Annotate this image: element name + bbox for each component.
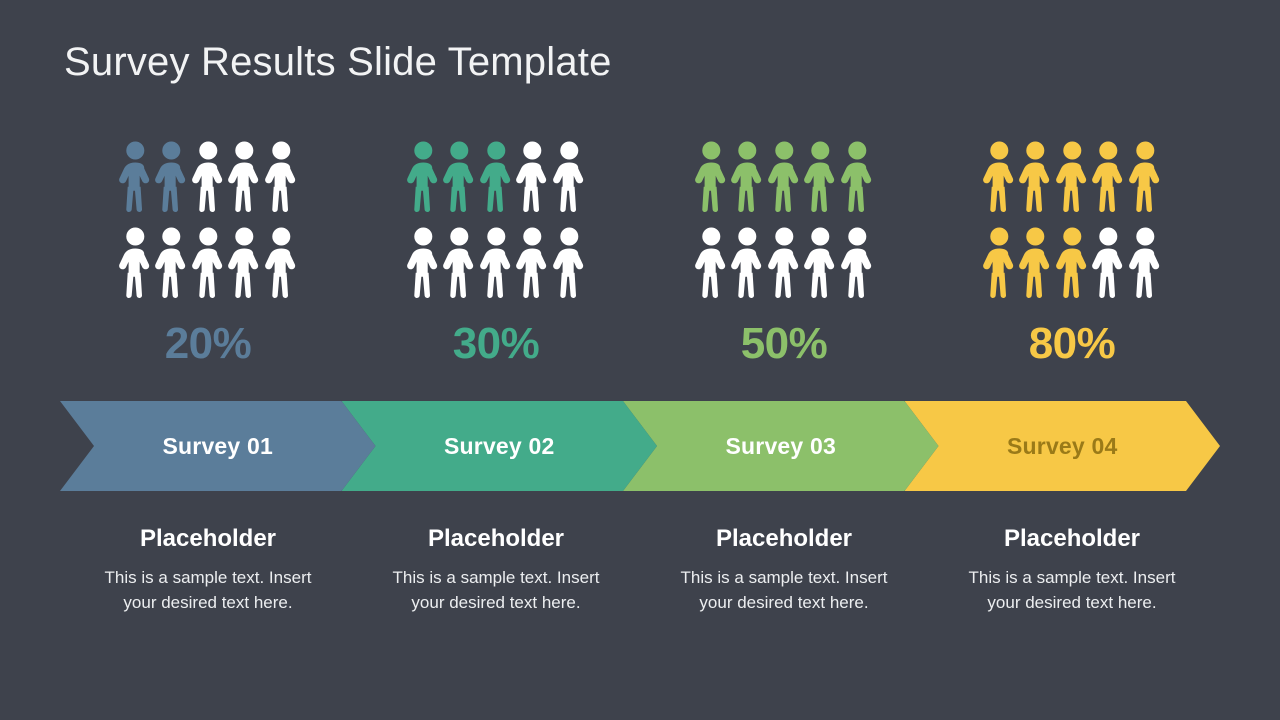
chevron-survey-01[interactable]: Survey 01 (60, 401, 376, 491)
person-icon-empty (802, 226, 839, 298)
person-icon-empty (153, 226, 190, 298)
person-icon-empty (190, 226, 227, 298)
pictogram-group-2 (405, 140, 588, 298)
survey-columns: 20%30%50%80% (64, 140, 1216, 366)
survey-column-2: 30% (352, 140, 640, 366)
percent-value-3: 50% (741, 322, 828, 366)
person-icon-filled (1017, 226, 1054, 298)
person-icon-filled (729, 140, 766, 212)
person-icon-filled (117, 140, 154, 212)
percent-value-1: 20% (165, 322, 252, 366)
person-icon-filled (1090, 140, 1127, 212)
person-icon-empty (226, 226, 263, 298)
person-icon-filled (1127, 140, 1164, 212)
person-icon-empty (117, 226, 154, 298)
person-icon-empty (693, 226, 730, 298)
person-icon-empty (263, 140, 300, 212)
chevron-label-survey-04: Survey 04 (1007, 433, 1118, 460)
description-body: This is a sample text. Insert your desir… (956, 566, 1188, 615)
survey-column-1: 20% (64, 140, 352, 366)
person-icon-empty (226, 140, 263, 212)
person-icon-empty (551, 226, 588, 298)
description-body: This is a sample text. Insert your desir… (92, 566, 324, 615)
description-block-3: PlaceholderThis is a sample text. Insert… (640, 524, 928, 615)
description-title: Placeholder (428, 524, 564, 554)
person-icon-empty (839, 226, 876, 298)
description-title: Placeholder (1004, 524, 1140, 554)
person-icon-filled (766, 140, 803, 212)
person-icon-empty (263, 226, 300, 298)
person-icon-empty (514, 226, 551, 298)
person-icon-empty (190, 140, 227, 212)
description-body: This is a sample text. Insert your desir… (380, 566, 612, 615)
survey-column-4: 80% (928, 140, 1216, 366)
pictogram-group-1 (117, 140, 300, 298)
pictogram-group-4 (981, 140, 1164, 298)
person-icon-empty (551, 140, 588, 212)
description-title: Placeholder (140, 524, 276, 554)
survey-column-3: 50% (640, 140, 928, 366)
person-icon-filled (1054, 226, 1091, 298)
person-icon-filled (441, 140, 478, 212)
person-icon-empty (478, 226, 515, 298)
chevron-survey-02[interactable]: Survey 02 (342, 401, 658, 491)
chevron-survey-04[interactable]: Survey 04 (905, 401, 1221, 491)
percent-value-2: 30% (453, 322, 540, 366)
page-title: Survey Results Slide Template (64, 40, 612, 85)
person-icon-filled (839, 140, 876, 212)
description-body: This is a sample text. Insert your desir… (668, 566, 900, 615)
person-icon-filled (981, 226, 1018, 298)
description-block-1: PlaceholderThis is a sample text. Insert… (64, 524, 352, 615)
pictogram-group-3 (693, 140, 876, 298)
description-title: Placeholder (716, 524, 852, 554)
person-icon-filled (802, 140, 839, 212)
person-icon-empty (405, 226, 442, 298)
chevron-label-survey-02: Survey 02 (444, 433, 555, 460)
person-icon-empty (441, 226, 478, 298)
person-icon-empty (729, 226, 766, 298)
chevron-survey-03[interactable]: Survey 03 (623, 401, 939, 491)
person-icon-filled (478, 140, 515, 212)
slide-canvas: Survey Results Slide Template 20%30%50%8… (0, 0, 1280, 720)
chevron-label-survey-01: Survey 01 (163, 433, 274, 460)
survey-chevron-band: Survey 01Survey 02Survey 03Survey 04 (60, 401, 1220, 491)
person-icon-filled (405, 140, 442, 212)
person-icon-empty (514, 140, 551, 212)
person-icon-filled (693, 140, 730, 212)
survey-descriptions: PlaceholderThis is a sample text. Insert… (64, 524, 1216, 615)
percent-value-4: 80% (1029, 322, 1116, 366)
person-icon-filled (981, 140, 1018, 212)
person-icon-empty (1127, 226, 1164, 298)
person-icon-empty (1090, 226, 1127, 298)
person-icon-filled (1017, 140, 1054, 212)
description-block-4: PlaceholderThis is a sample text. Insert… (928, 524, 1216, 615)
person-icon-filled (1054, 140, 1091, 212)
person-icon-empty (766, 226, 803, 298)
description-block-2: PlaceholderThis is a sample text. Insert… (352, 524, 640, 615)
chevron-label-survey-03: Survey 03 (726, 433, 837, 460)
person-icon-filled (153, 140, 190, 212)
